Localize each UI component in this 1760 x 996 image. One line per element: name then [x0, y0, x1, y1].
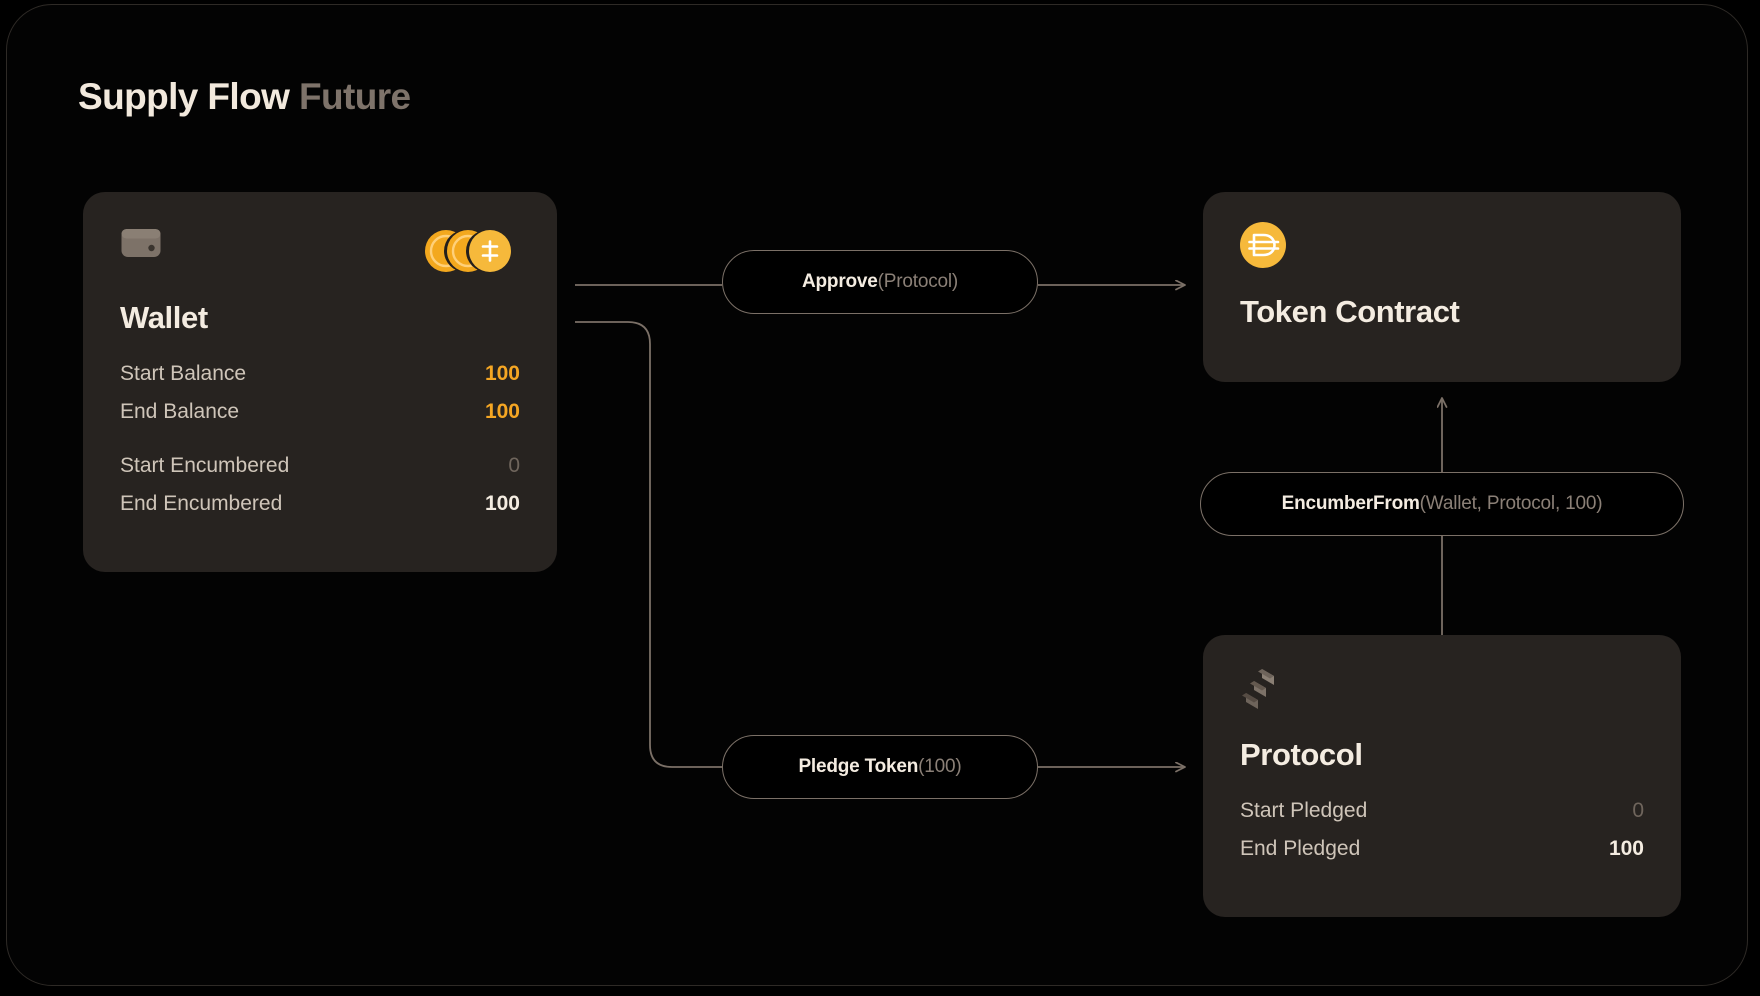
- title-secondary: Future: [299, 76, 411, 117]
- stat-label: Start Pledged: [1240, 799, 1367, 823]
- edge-label-pledge-token[interactable]: Pledge Token (100): [722, 735, 1038, 799]
- edge-fn-name: Approve: [802, 271, 878, 293]
- edge-fn-name: Pledge Token: [798, 756, 918, 778]
- wallet-icon: [120, 226, 162, 265]
- edge-fn-args: (100): [918, 756, 961, 778]
- wallet-icon-row: [120, 226, 520, 270]
- title-primary: Supply Flow: [78, 76, 289, 117]
- stat-row: Start Encumbered 0: [120, 454, 520, 478]
- diagram-canvas: Supply Flow Future: [0, 0, 1760, 996]
- stat-label: Start Balance: [120, 362, 246, 386]
- stat-label: End Encumbered: [120, 492, 282, 516]
- token-contract-title: Token Contract: [1240, 294, 1644, 330]
- edge-fn-args: (Protocol): [878, 271, 958, 293]
- edge-label-encumber-from[interactable]: EncumberFrom (Wallet, Protocol, 100): [1200, 472, 1684, 536]
- stat-value: 0: [1632, 799, 1644, 823]
- stat-label: End Pledged: [1240, 837, 1360, 861]
- stat-value: 100: [1609, 837, 1644, 861]
- stat-value: 0: [508, 454, 520, 478]
- dai-token-icon: [1240, 222, 1286, 273]
- stat-row: End Balance 100: [120, 400, 520, 424]
- stat-row: End Encumbered 100: [120, 492, 520, 516]
- stat-row: End Pledged 100: [1240, 837, 1644, 861]
- protocol-title: Protocol: [1240, 737, 1644, 773]
- protocol-icon-row: [1240, 665, 1644, 709]
- stat-value: 100: [485, 362, 520, 386]
- stat-row: Start Balance 100: [120, 362, 520, 386]
- stacked-coins-icon: [420, 228, 520, 279]
- wallet-card[interactable]: Wallet Start Balance 100 End Balance 100…: [83, 192, 557, 572]
- protocol-stats: Start Pledged 0 End Pledged 100: [1240, 799, 1644, 861]
- stat-label: End Balance: [120, 400, 239, 424]
- token-contract-card[interactable]: Token Contract: [1203, 192, 1681, 382]
- edge-label-approve[interactable]: Approve (Protocol): [722, 250, 1038, 314]
- stat-value: 100: [485, 492, 520, 516]
- stat-value: 100: [485, 400, 520, 424]
- page-title: Supply Flow Future: [78, 76, 410, 118]
- protocol-card[interactable]: Protocol Start Pledged 0 End Pledged 100: [1203, 635, 1681, 917]
- stat-row: Start Pledged 0: [1240, 799, 1644, 823]
- wallet-stats: Start Balance 100 End Balance 100 Start …: [120, 362, 520, 516]
- token-icon-row: [1240, 222, 1644, 266]
- edge-fn-name: EncumberFrom: [1282, 493, 1420, 515]
- protocol-bars-icon: [1240, 665, 1284, 716]
- edge-fn-args: (Wallet, Protocol, 100): [1420, 493, 1603, 515]
- wallet-title: Wallet: [120, 300, 520, 336]
- stat-label: Start Encumbered: [120, 454, 289, 478]
